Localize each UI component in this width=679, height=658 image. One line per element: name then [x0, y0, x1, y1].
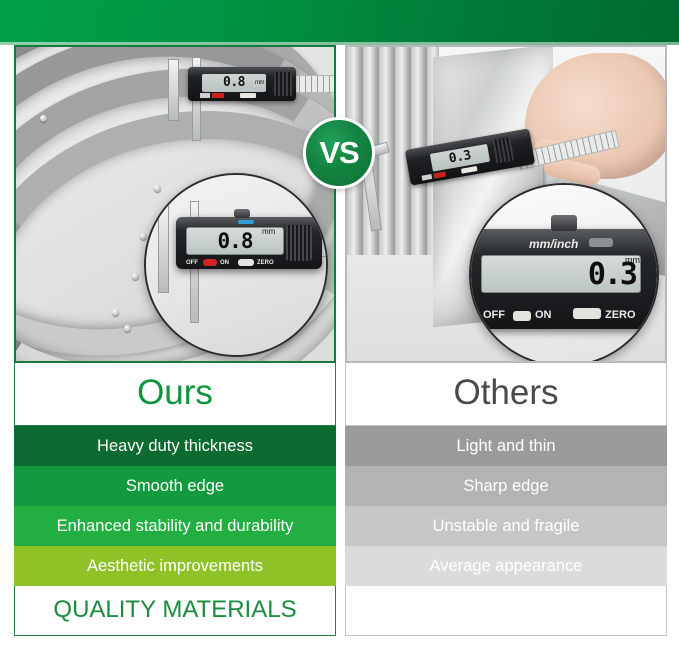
caliper-on-switch	[513, 311, 531, 321]
bolt-icon	[124, 325, 131, 332]
caliper-on-label: ON	[220, 260, 229, 266]
feature-row: Light and thin	[345, 426, 667, 466]
caliper-roller	[551, 215, 577, 231]
caliper-jaw	[158, 205, 169, 293]
magnifier-others: mm/inch 0.3 mm OFF ON ZERO	[469, 183, 659, 363]
photo-others: 0.3 mm/inch 0	[345, 45, 667, 363]
caliper-on-button	[212, 93, 224, 98]
feature-row: Sharp edge	[345, 466, 667, 506]
caliper-zero-switch	[238, 259, 254, 266]
caliper-on-switch	[203, 259, 217, 266]
feature-row: Aesthetic improvements	[14, 546, 336, 586]
caliper-unit: mm	[625, 255, 640, 265]
bolt-icon	[132, 273, 139, 280]
column-title-ours: Ours	[14, 363, 336, 426]
caliper-reading: 0.3	[448, 148, 472, 167]
caliper-display: 0.3	[481, 255, 641, 293]
feature-row: Average appearance	[345, 546, 667, 586]
feature-rows-others: Light and thin Sharp edge Unstable and f…	[345, 426, 667, 586]
column-others: 0.3 mm/inch 0	[345, 45, 667, 636]
caliper-others-magnified: mm/inch 0.3 mm OFF ON ZERO	[469, 229, 659, 329]
caliper-on-label: ON	[535, 309, 552, 321]
caliper-zero-button	[461, 166, 478, 174]
caliper-unit: mm	[262, 227, 275, 236]
feature-rows-ours: Heavy duty thickness Smooth edge Enhance…	[14, 426, 336, 586]
caliper-off-button	[422, 174, 433, 181]
feature-row: Unstable and fragile	[345, 506, 667, 546]
caliper-jaw	[168, 59, 179, 121]
caliper-reading: 0.8	[218, 229, 253, 253]
caliper-button-row	[200, 93, 280, 99]
caliper-zero-label: ZERO	[605, 309, 636, 321]
magnifier-ours: 0.8 mm OFF ON ZERO	[144, 173, 328, 357]
vs-badge: VS	[303, 117, 375, 189]
column-ours: 0.8mm	[14, 45, 336, 636]
caliper-thumb-wheel	[286, 225, 312, 261]
caliper-off-button	[200, 93, 210, 98]
bolt-icon	[40, 115, 47, 122]
feature-row: Smooth edge	[14, 466, 336, 506]
footer-ours: QUALITY MATERIALS	[14, 586, 336, 636]
caliper-off-label: OFF	[186, 260, 198, 266]
caliper-zero-button	[240, 93, 256, 98]
caliper-thumb-wheel	[492, 137, 514, 164]
caliper-mode-label: mm/inch	[529, 237, 578, 251]
column-title-others: Others	[345, 363, 667, 426]
caliper-ours-inline: 0.8mm	[188, 67, 296, 101]
caliper-mode-button	[589, 238, 613, 247]
caliper-ours-magnified: 0.8 mm OFF ON ZERO	[176, 217, 322, 269]
feature-row: Heavy duty thickness	[14, 426, 336, 466]
caliper-unit: mm	[255, 74, 264, 92]
caliper-mode-button	[238, 220, 254, 224]
feature-row: Enhanced stability and durability	[14, 506, 336, 546]
caliper-reading: 0.8	[223, 75, 245, 90]
bolt-icon	[112, 309, 119, 316]
caliper-zero-switch	[573, 308, 601, 319]
photo-ours: 0.8mm	[14, 45, 336, 363]
caliper-on-button	[433, 172, 446, 179]
top-banner	[0, 0, 679, 42]
footer-others	[345, 586, 667, 636]
caliper-display: 0.8mm	[202, 74, 266, 92]
caliper-zero-label: ZERO	[257, 260, 274, 266]
caliper-roller	[234, 209, 250, 218]
caliper-off-label: OFF	[483, 309, 505, 321]
